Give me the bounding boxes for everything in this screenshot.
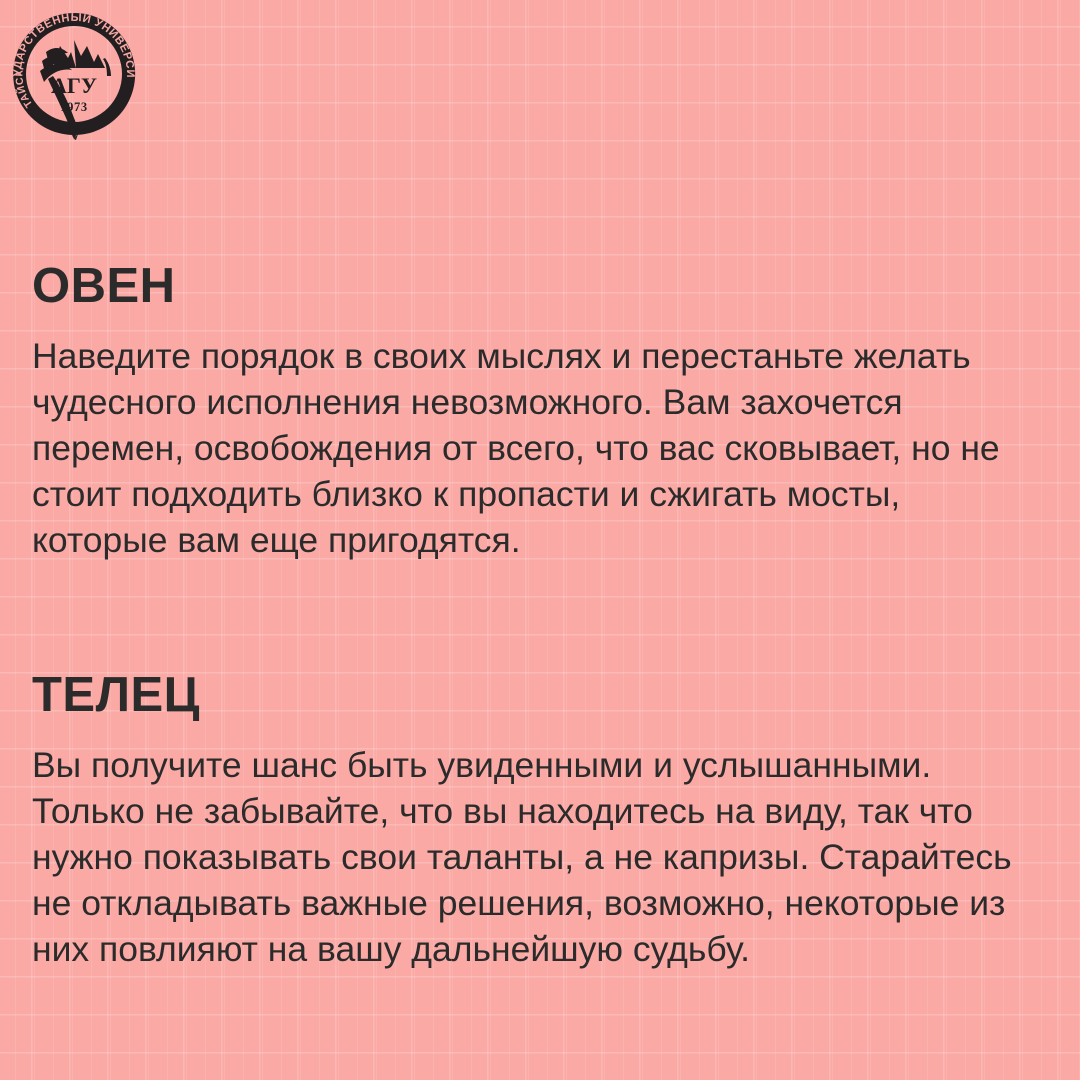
logo-year: 1973 (60, 100, 87, 114)
asu-logo: ГОСУДАРСТВЕННЫЙ УНИВЕРСИТЕТ АЛТАЙСКИЙ (8, 6, 140, 146)
sign-title-aries: ОВЕН (32, 262, 1048, 311)
horoscope-content: ОВЕН Наведите порядок в своих мыслях и п… (32, 262, 1048, 972)
horoscope-section-taurus: ТЕЛЕЦ Вы получите шанс быть увиденными и… (32, 671, 1048, 972)
sign-body-taurus: Вы получите шанс быть увиденными и услыш… (32, 742, 1044, 972)
horoscope-section-aries: ОВЕН Наведите порядок в своих мыслях и п… (32, 262, 1048, 563)
sign-title-taurus: ТЕЛЕЦ (32, 671, 1048, 720)
sign-body-aries: Наведите порядок в своих мыслях и перест… (32, 333, 1044, 563)
logo-abbreviation: АГУ (51, 73, 97, 98)
horoscope-card: ГОСУДАРСТВЕННЫЙ УНИВЕРСИТЕТ АЛТАЙСКИЙ (0, 0, 1080, 1080)
